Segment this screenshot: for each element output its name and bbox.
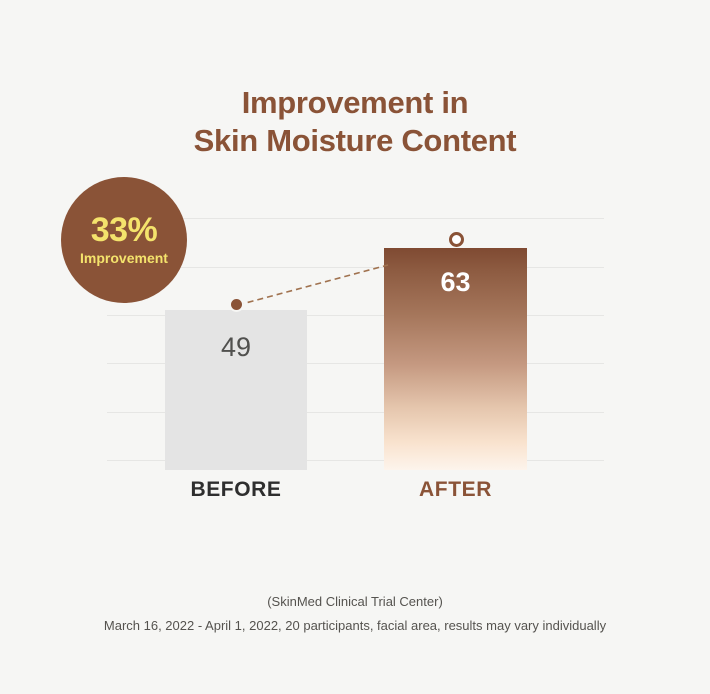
- infographic-root: Improvement in Skin Moisture Content 49 …: [0, 0, 710, 694]
- footnote-details: March 16, 2022 - April 1, 2022, 20 parti…: [0, 614, 710, 638]
- category-label-before: BEFORE: [165, 478, 307, 502]
- value-label-after: 63: [384, 267, 527, 298]
- improvement-badge: 33% Improvement: [61, 177, 187, 303]
- footnote-source: (SkinMed Clinical Trial Center): [0, 590, 710, 614]
- data-point-marker-after: [449, 232, 464, 247]
- gridline: [107, 267, 604, 268]
- data-point-marker-before: [229, 297, 244, 312]
- title-line-2: Skin Moisture Content: [0, 122, 710, 160]
- page-title: Improvement in Skin Moisture Content: [0, 84, 710, 160]
- badge-caption: Improvement: [80, 249, 168, 267]
- title-line-1: Improvement in: [0, 84, 710, 122]
- footnote: (SkinMed Clinical Trial Center) March 16…: [0, 590, 710, 638]
- badge-percent: 33%: [91, 213, 158, 247]
- category-label-after: AFTER: [384, 478, 527, 502]
- value-label-before: 49: [165, 332, 307, 363]
